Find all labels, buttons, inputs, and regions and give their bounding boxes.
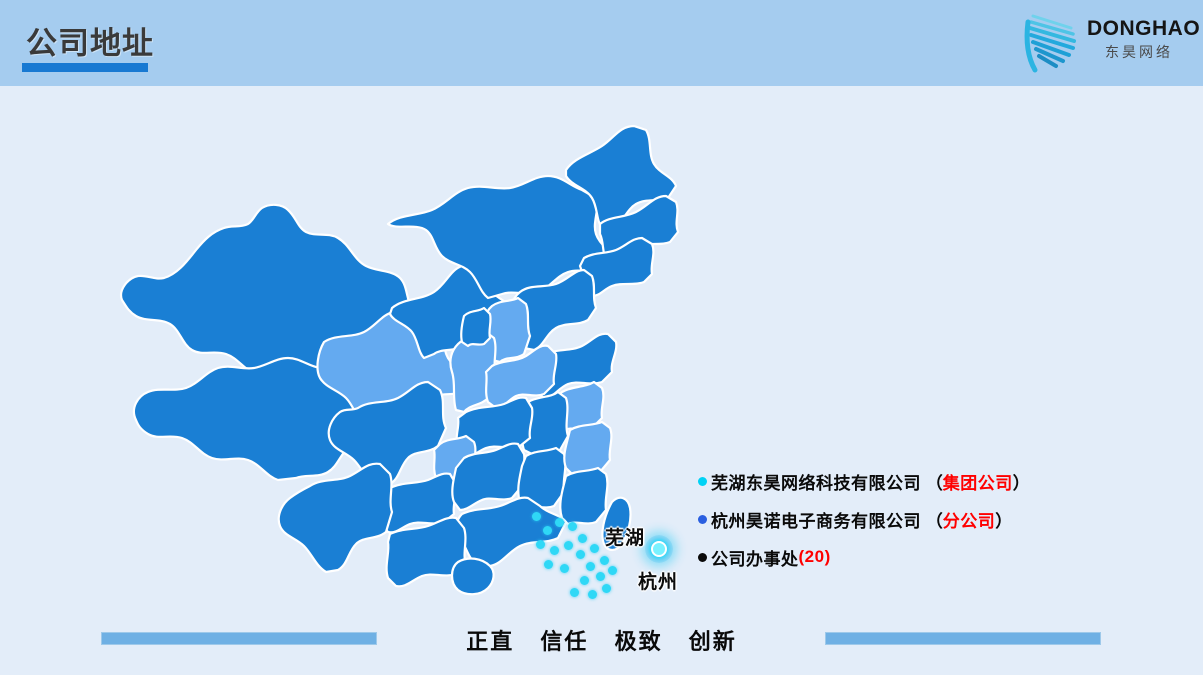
footer-slogan: 正直 信任 极致 创新 xyxy=(0,624,1203,656)
logo-text: DONGHAO 东昊网络 xyxy=(1087,18,1191,59)
slide-header: 公司地址 DONGHAO 东昊网络 xyxy=(0,0,1203,86)
legend-label: 芜湖东昊网络科技有限公司 xyxy=(711,469,921,494)
office-dot xyxy=(580,576,589,585)
logo-name-cn: 东昊网络 xyxy=(1087,45,1191,59)
office-dot xyxy=(600,556,609,565)
office-dot xyxy=(602,584,611,593)
legend-paren-open: （ xyxy=(921,469,943,494)
legend-bullet-icon xyxy=(698,477,707,486)
china-map: 芜湖 杭州 xyxy=(92,120,692,600)
office-dot xyxy=(544,560,553,569)
office-dot xyxy=(578,534,587,543)
office-dot xyxy=(560,564,569,573)
slogan-word-2: 信任 xyxy=(540,629,588,654)
office-dot xyxy=(555,518,564,527)
province-yunnan xyxy=(279,464,392,572)
china-map-svg xyxy=(92,120,692,600)
city-label-hangzhou: 杭州 xyxy=(638,567,678,594)
legend-bullet-icon xyxy=(698,515,707,524)
legend-tag: 集团公司 xyxy=(943,469,1013,494)
legend-paren-close: ） xyxy=(1013,469,1030,494)
office-dot xyxy=(568,522,577,531)
office-dot xyxy=(536,540,545,549)
legend-tag: 分公司 xyxy=(943,507,996,532)
office-dot xyxy=(588,590,597,599)
legend-tag: (20) xyxy=(799,547,831,567)
slogan-word-1: 正直 xyxy=(466,629,514,654)
legend-label: 杭州昊诺电子商务有限公司 xyxy=(711,507,921,532)
legend-paren-open: （ xyxy=(921,507,943,532)
legend-item-branch-company: 杭州昊诺电子商务有限公司 （ 分公司 ） xyxy=(698,500,1168,538)
office-dot xyxy=(608,566,617,575)
office-dot xyxy=(543,526,552,535)
slogan-word-3: 极致 xyxy=(615,629,663,654)
office-dot xyxy=(532,512,541,521)
title-underline xyxy=(22,63,148,72)
province-hainan xyxy=(452,559,494,595)
legend-label: 公司办事处 xyxy=(711,545,799,570)
logo-name-en: DONGHAO xyxy=(1087,18,1191,39)
province-zhejiang xyxy=(564,422,611,474)
office-dot xyxy=(550,546,559,555)
page-title: 公司地址 xyxy=(26,18,154,63)
province-ningxia xyxy=(461,308,490,346)
headquarters-marker xyxy=(645,535,673,563)
slide-company-address: 公司地址 DONGHAO 东昊网络 xyxy=(0,0,1203,675)
legend-paren-close: ） xyxy=(995,507,1012,532)
office-dot xyxy=(564,541,573,550)
legend-item-group-company: 芜湖东昊网络科技有限公司 （ 集团公司 ） xyxy=(698,462,1168,500)
legend-item-offices: 公司办事处 (20) xyxy=(698,538,1168,576)
city-label-wuhu: 芜湖 xyxy=(605,523,645,550)
feather-wing-icon xyxy=(1019,8,1093,74)
legend: 芜湖东昊网络科技有限公司 （ 集团公司 ） 杭州昊诺电子商务有限公司 （ 分公司… xyxy=(698,462,1168,576)
office-dot xyxy=(570,588,579,597)
legend-bullet-icon xyxy=(698,553,707,562)
company-logo: DONGHAO 东昊网络 xyxy=(1013,6,1189,78)
office-dot xyxy=(586,562,595,571)
office-dot xyxy=(590,544,599,553)
province-fujian xyxy=(560,468,607,524)
office-dot xyxy=(596,572,605,581)
office-dot xyxy=(576,550,585,559)
slogan-word-4: 创新 xyxy=(689,629,737,654)
